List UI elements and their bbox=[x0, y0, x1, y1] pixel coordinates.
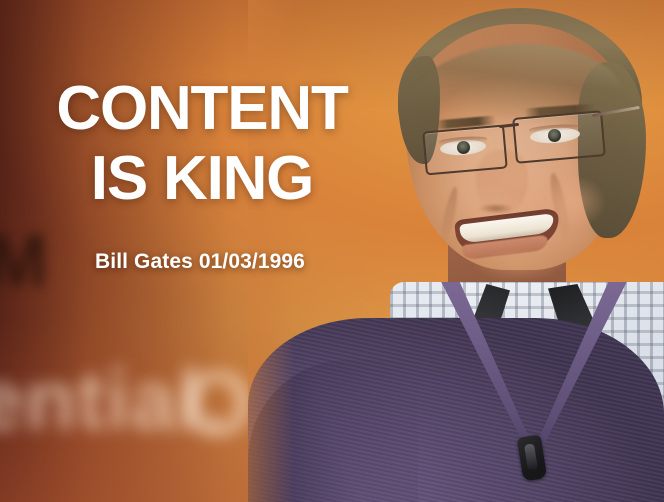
page-title: CONTENT IS KING bbox=[0, 74, 400, 214]
slide-canvas: M tential. O bbox=[0, 0, 664, 502]
headline-line-1: CONTENT bbox=[0, 74, 400, 144]
eyeglasses-lens-left bbox=[422, 125, 508, 176]
blurred-backdrop-letter-o: O bbox=[182, 352, 255, 457]
chin-highlight bbox=[472, 252, 564, 286]
eyeglasses-lens-right bbox=[512, 110, 606, 164]
attribution-text: Bill Gates 01/03/1996 bbox=[0, 250, 400, 274]
headline-line-2: IS KING bbox=[0, 144, 400, 214]
nostril-shading bbox=[478, 204, 514, 213]
